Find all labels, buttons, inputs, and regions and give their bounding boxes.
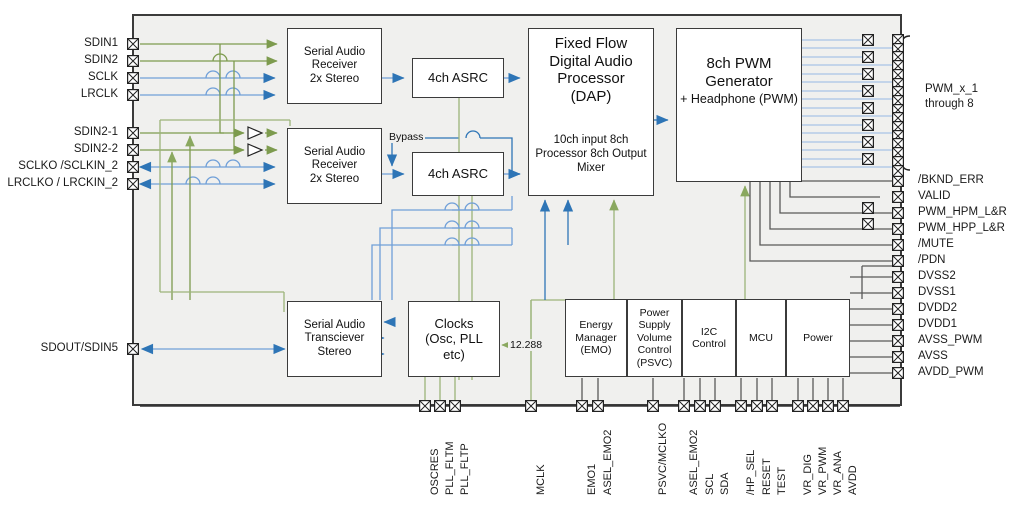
left-pin-label-3: LRCLK <box>0 89 118 101</box>
right-inner-pin-hpp[interactable] <box>862 218 874 230</box>
block-energy-manager[interactable]: Energy Manager (EMO) <box>565 299 627 377</box>
dap-subtext: 10ch input 8ch Processor 8ch Output Mixe… <box>528 133 654 175</box>
right-pin-label-10: AVSS_PWM <box>918 335 982 347</box>
left-pin-2[interactable] <box>127 72 139 84</box>
left-pin-4[interactable] <box>127 127 139 139</box>
left-pin-7[interactable] <box>127 178 139 190</box>
bottom-pin-16[interactable] <box>837 400 849 412</box>
rx2-line1: Serial Audio <box>304 146 365 160</box>
left-pin-3[interactable] <box>127 89 139 101</box>
pwm-inner-pin-4[interactable] <box>862 85 874 97</box>
bottom-pin-label-13: VR_DIG <box>803 454 814 495</box>
pwm-inner-pin-2[interactable] <box>862 51 874 63</box>
right-pin-3[interactable] <box>892 223 904 235</box>
block-serial-audio-receiver-1[interactable]: Serial Audio Receiver 2x Stereo <box>287 28 382 104</box>
clocks-line3: etc) <box>425 347 483 362</box>
bottom-pin-label-1: PLL_FLTM <box>445 441 456 495</box>
bottom-pin-label-15: VR_ANA <box>833 451 844 495</box>
rx2-line2: Receiver <box>304 159 365 173</box>
tx-line3: Stereo <box>304 346 365 360</box>
bottom-pin-14[interactable] <box>807 400 819 412</box>
mcu-label: MCU <box>749 332 773 344</box>
pwm-inner-pin-6[interactable] <box>862 119 874 131</box>
left-pin-label-1: SDIN2 <box>0 55 118 67</box>
left-pin-1[interactable] <box>127 55 139 67</box>
psvc-line1: Power <box>637 307 673 319</box>
bottom-pin-4[interactable] <box>576 400 588 412</box>
right-pin-12[interactable] <box>892 367 904 379</box>
tx-line1: Serial Audio <box>304 319 365 333</box>
bottom-pin-3[interactable] <box>525 400 537 412</box>
right-pin-11[interactable] <box>892 351 904 363</box>
pwm-inner-pin-1[interactable] <box>862 34 874 46</box>
power-label: Power <box>803 332 833 344</box>
i2c-line2: Control <box>692 338 726 350</box>
block-power[interactable]: Power <box>786 299 850 377</box>
pwm-bus-label-line2: through 8 <box>925 99 974 111</box>
psvc-line3: Volume <box>637 332 673 344</box>
bottom-pin-label-16: AVDD <box>848 465 859 495</box>
pwm-sub2: (PWM) <box>759 92 798 106</box>
right-pin-0[interactable] <box>892 175 904 187</box>
clocks-line1: Clocks <box>425 316 483 331</box>
bottom-pin-10[interactable] <box>735 400 747 412</box>
bottom-pin-label-7: ASEL_EMO2 <box>689 430 700 495</box>
block-serial-audio-transceiver[interactable]: Serial Audio Transciever Stereo <box>287 301 382 377</box>
clocks-line2: (Osc, PLL <box>425 331 483 346</box>
bottom-pin-5[interactable] <box>592 400 604 412</box>
bottom-pin-label-3: MCLK <box>536 464 547 495</box>
bottom-pin-7[interactable] <box>678 400 690 412</box>
right-pin-label-9: DVDD1 <box>918 319 957 331</box>
right-pin-10[interactable] <box>892 335 904 347</box>
pwm-outer-pin-16[interactable] <box>892 165 904 177</box>
right-pin-6[interactable] <box>892 271 904 283</box>
right-pin-label-0: /BKND_ERR <box>918 175 984 187</box>
emo-line3: (EMO) <box>575 344 616 356</box>
left-pin-5[interactable] <box>127 144 139 156</box>
block-clocks[interactable]: Clocks (Osc, PLL etc) <box>408 301 500 377</box>
clock-frequency-annotation: 12.288 <box>508 339 544 351</box>
bottom-pin-label-8: SCL <box>705 474 716 495</box>
bottom-pin-12[interactable] <box>766 400 778 412</box>
block-asrc-1[interactable]: 4ch ASRC <box>412 58 504 98</box>
dap-sub1: 10ch input <box>554 134 607 146</box>
i2c-line1: I2C <box>692 326 726 338</box>
bottom-pin-6[interactable] <box>647 400 659 412</box>
bottom-pin-11[interactable] <box>751 400 763 412</box>
block-asrc-2[interactable]: 4ch ASRC <box>412 152 504 196</box>
left-pin-label-7: LRCLKO / LRCKIN_2 <box>0 178 118 190</box>
left-pin-label-4: SDIN2-1 <box>0 127 118 139</box>
psvc-line2: Supply <box>637 319 673 331</box>
right-pin-label-4: /MUTE <box>918 239 954 251</box>
psvc-line4: Control <box>637 344 673 356</box>
bottom-pin-label-10: /HP_SEL <box>746 450 757 495</box>
bypass-annotation: Bypass <box>387 131 425 143</box>
pwm-inner-pin-3[interactable] <box>862 68 874 80</box>
rx1-line2: Receiver <box>304 59 365 73</box>
rx1-line3: 2x Stereo <box>304 73 365 87</box>
bottom-pin-1[interactable] <box>434 400 446 412</box>
bottom-pin-label-6: PSVC/MCLKO <box>658 423 669 495</box>
bottom-pin-label-9: SDA <box>720 472 731 495</box>
asrc2-label: 4ch ASRC <box>428 166 488 181</box>
right-pin-label-2: PWM_HPM_L&R <box>918 207 1007 219</box>
left-pin-label-5: SDIN2-2 <box>0 144 118 156</box>
left-pin-label-0: SDIN1 <box>0 38 118 50</box>
left-pin-0[interactable] <box>127 38 139 50</box>
asrc1-label: 4ch ASRC <box>428 70 488 85</box>
left-pin-label-2: SCLK <box>0 72 118 84</box>
dap-title3: Processor <box>549 70 632 88</box>
left-pin-6[interactable] <box>127 161 139 173</box>
tx-line2: Transciever <box>304 332 365 346</box>
right-inner-pin-hpm[interactable] <box>862 202 874 214</box>
right-pin-1[interactable] <box>892 191 904 203</box>
block-i2c-control[interactable]: I2C Control <box>682 299 736 377</box>
right-pin-9[interactable] <box>892 319 904 331</box>
rx1-line1: Serial Audio <box>304 46 365 60</box>
dap-sub3: 8ch Output Mixer <box>577 148 647 174</box>
emo-line2: Manager <box>575 332 616 344</box>
block-mcu[interactable]: MCU <box>736 299 786 377</box>
pwm-subtext: + Headphone (PWM) <box>676 92 802 107</box>
dap-title1: Fixed Flow <box>549 35 632 53</box>
right-pin-8[interactable] <box>892 303 904 315</box>
pwm-title2: Generator <box>705 73 773 91</box>
right-pin-label-5: /PDN <box>918 255 945 267</box>
block-serial-audio-receiver-2[interactable]: Serial Audio Receiver 2x Stereo <box>287 128 382 204</box>
block-power-supply-volume-control[interactable]: Power Supply Volume Control (PSVC) <box>627 299 682 377</box>
left-pin-label-6: SCLKO /SCLKIN_2 <box>0 161 118 173</box>
psvc-line5: (PSVC) <box>637 357 673 369</box>
right-pin-label-3: PWM_HPP_L&R <box>918 223 1005 235</box>
pwm-sub1: + Headphone <box>680 92 755 106</box>
rx2-line3: 2x Stereo <box>304 173 365 187</box>
bottom-pin-8[interactable] <box>694 400 706 412</box>
block-diagram-canvas: Serial Audio Receiver 2x Stereo Serial A… <box>0 0 1011 505</box>
right-pin-4[interactable] <box>892 239 904 251</box>
right-pin-label-7: DVSS1 <box>918 287 956 299</box>
bottom-pin-label-4: EMO1 <box>587 464 598 495</box>
left-pin-label-8: SDOUT/SDIN5 <box>0 343 118 355</box>
bottom-pin-2[interactable] <box>449 400 461 412</box>
right-pin-label-6: DVSS2 <box>918 271 956 283</box>
right-pin-label-12: AVDD_PWM <box>918 367 984 379</box>
right-pin-7[interactable] <box>892 287 904 299</box>
bottom-pin-label-2: PLL_FLTP <box>460 443 471 495</box>
dap-title4: (DAP) <box>549 88 632 106</box>
bottom-pin-label-14: VR_PWM <box>818 447 829 495</box>
bottom-pin-label-11: RESET <box>762 458 773 495</box>
right-pin-label-1: VALID <box>918 191 950 203</box>
wiring-layer <box>0 0 1011 505</box>
bottom-pin-label-5: ASEL_EMO2 <box>603 430 614 495</box>
left-pin-8[interactable] <box>127 343 139 355</box>
right-pin-label-11: AVSS <box>918 351 948 363</box>
pwm-inner-pin-5[interactable] <box>862 102 874 114</box>
bottom-pin-label-0: OSCRES <box>430 449 441 495</box>
pwm-inner-pin-7[interactable] <box>862 136 874 148</box>
dap-title2: Digital Audio <box>549 53 632 71</box>
pwm-inner-pin-8[interactable] <box>862 153 874 165</box>
bottom-pin-13[interactable] <box>792 400 804 412</box>
bottom-pin-label-12: TEST <box>777 467 788 495</box>
bottom-pin-15[interactable] <box>822 400 834 412</box>
bottom-pin-0[interactable] <box>419 400 431 412</box>
right-pin-5[interactable] <box>892 255 904 267</box>
pwm-bus-label-line1: PWM_x_1 <box>925 84 978 96</box>
emo-line1: Energy <box>575 319 616 331</box>
bottom-pin-9[interactable] <box>709 400 721 412</box>
right-pin-label-8: DVDD2 <box>918 303 957 315</box>
right-pin-2[interactable] <box>892 207 904 219</box>
pwm-title1: 8ch PWM <box>705 55 773 73</box>
